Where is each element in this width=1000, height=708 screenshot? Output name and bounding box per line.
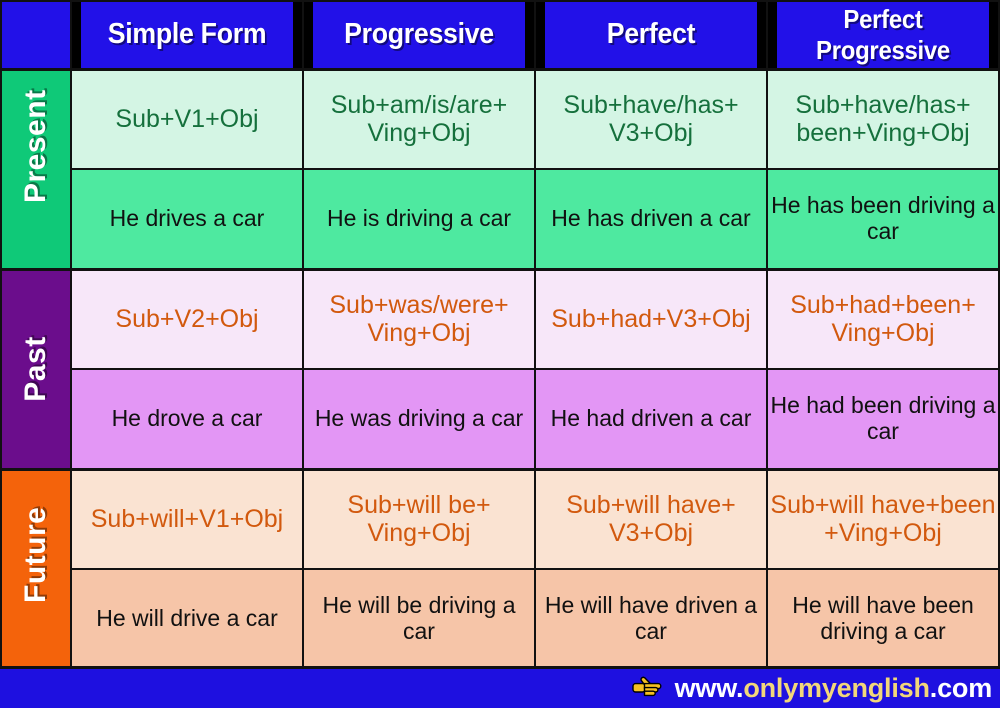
header-corner-cell <box>1 1 71 69</box>
future-simple-formula: Sub+will+V1+Obj <box>71 469 303 569</box>
url-domain-name: onlymyenglish <box>743 673 929 703</box>
header-perfect: Perfect <box>544 1 757 69</box>
row-label-future: Future <box>1 469 71 669</box>
future-perfect-progressive-example: He will have been driving a car <box>767 569 999 669</box>
url-tld: .com <box>930 673 992 703</box>
present-perfect-formula: Sub+have/has+ V3+Obj <box>535 69 767 169</box>
pointing-hand-icon <box>631 675 665 703</box>
verb-tense-table: Simple Form Progressive Perfect Perfect … <box>0 0 1000 670</box>
future-perfect-progressive-formula: Sub+will have+been +Ving+Obj <box>767 469 999 569</box>
present-simple-example: He drives a car <box>71 169 303 269</box>
url-www: www. <box>675 673 744 703</box>
present-perfect-progressive-example: He has been driving a car <box>767 169 999 269</box>
past-simple-example: He drove a car <box>71 369 303 469</box>
past-perfect-progressive-formula: Sub+had+been+ Ving+Obj <box>767 269 999 369</box>
past-progressive-formula: Sub+was/were+ Ving+Obj <box>303 269 535 369</box>
past-perfect-progressive-example: He had been driving a car <box>767 369 999 469</box>
row-label-past-text: Past <box>19 335 53 403</box>
present-perfect-example: He has driven a car <box>535 169 767 269</box>
future-progressive-formula: Sub+will be+ Ving+Obj <box>303 469 535 569</box>
present-progressive-formula: Sub+am/is/are+ Ving+Obj <box>303 69 535 169</box>
past-example-row: He drove a car He was driving a car He h… <box>1 369 999 469</box>
past-formula-row: Past Sub+V2+Obj Sub+was/were+ Ving+Obj S… <box>1 269 999 369</box>
present-progressive-example: He is driving a car <box>303 169 535 269</box>
future-formula-row: Future Sub+will+V1+Obj Sub+will be+ Ving… <box>1 469 999 569</box>
header-progressive: Progressive <box>312 1 525 69</box>
past-progressive-example: He was driving a car <box>303 369 535 469</box>
present-example-row: He drives a car He is driving a car He h… <box>1 169 999 269</box>
future-perfect-formula: Sub+will have+ V3+Obj <box>535 469 767 569</box>
present-formula-row: Present Sub+V1+Obj Sub+am/is/are+ Ving+O… <box>1 69 999 169</box>
header-simple-form: Simple Form <box>80 1 293 69</box>
row-label-future-text: Future <box>19 535 53 603</box>
future-progressive-example: He will be driving a car <box>303 569 535 669</box>
present-perfect-progressive-formula: Sub+have/has+ been+Ving+Obj <box>767 69 999 169</box>
row-label-present: Present <box>1 69 71 269</box>
website-url[interactable]: www.onlymyenglish.com <box>675 673 992 704</box>
table-header-row: Simple Form Progressive Perfect Perfect … <box>1 1 999 69</box>
future-perfect-example: He will have driven a car <box>535 569 767 669</box>
present-simple-formula: Sub+V1+Obj <box>71 69 303 169</box>
future-example-row: He will drive a car He will be driving a… <box>1 569 999 669</box>
future-simple-example: He will drive a car <box>71 569 303 669</box>
tense-chart-page: Simple Form Progressive Perfect Perfect … <box>0 0 1000 708</box>
past-perfect-example: He had driven a car <box>535 369 767 469</box>
footer-bar: www.onlymyenglish.com <box>0 666 1000 708</box>
header-perfect-progressive: Perfect Progressive <box>776 1 989 69</box>
row-label-past: Past <box>1 269 71 469</box>
row-label-present-text: Present <box>19 135 53 203</box>
past-perfect-formula: Sub+had+V3+Obj <box>535 269 767 369</box>
past-simple-formula: Sub+V2+Obj <box>71 269 303 369</box>
